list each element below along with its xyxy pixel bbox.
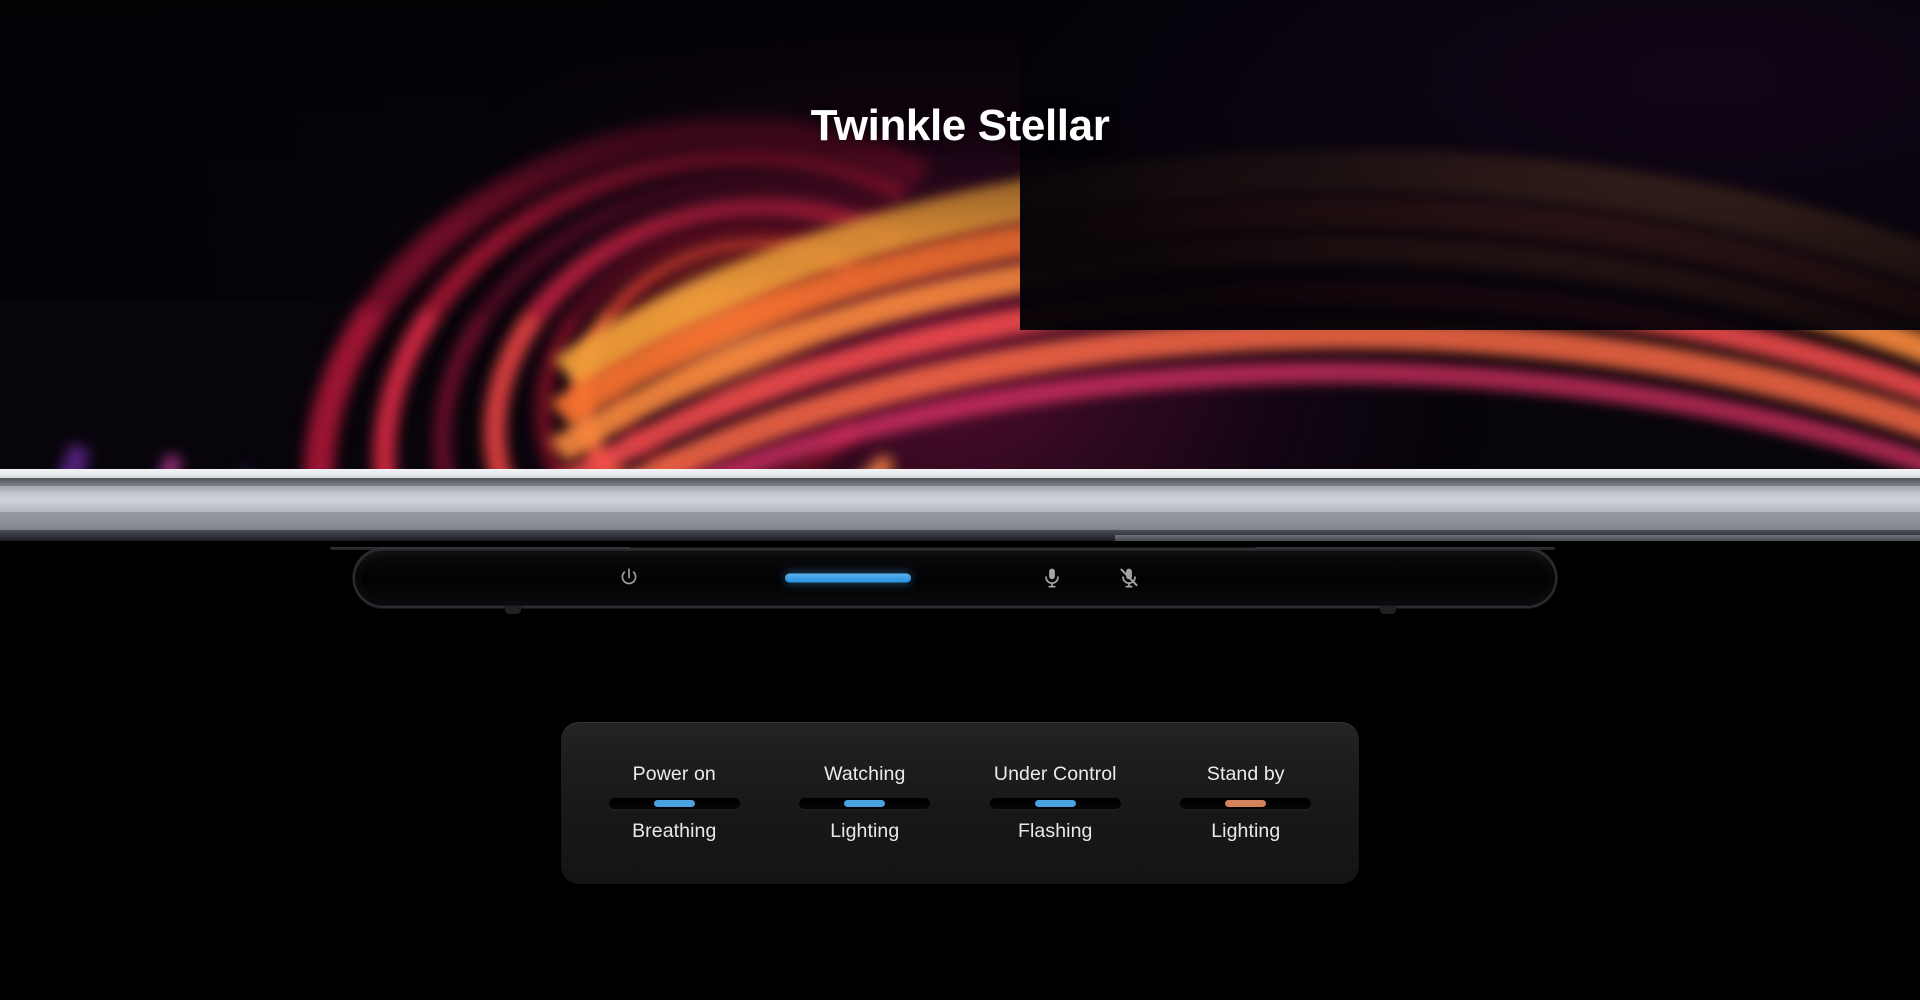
status-mode-label: Lighting <box>830 822 899 842</box>
status-card-under-control[interactable]: Under Control Flashing <box>960 765 1151 841</box>
status-card-stand-by[interactable]: Stand by Lighting <box>1151 765 1342 841</box>
status-indicator-track[interactable] <box>1180 798 1311 809</box>
status-mode-label: Lighting <box>1211 822 1280 842</box>
bezel-aluminium-face <box>0 486 1920 512</box>
status-indicator-fill <box>844 800 885 807</box>
bezel-lower-face <box>0 512 1920 530</box>
status-title: Under Control <box>994 765 1117 785</box>
microphone-muted-icon[interactable] <box>1117 566 1141 590</box>
led-strip[interactable] <box>785 574 911 583</box>
bezel-highlight-edge <box>0 469 1920 478</box>
status-indicator-fill <box>654 800 695 807</box>
status-card-watching[interactable]: Watching Lighting <box>770 765 961 841</box>
light-bar[interactable] <box>355 550 1555 606</box>
status-indicator-fill <box>1035 800 1076 807</box>
status-mode-label: Breathing <box>632 822 716 842</box>
status-panel: Power on Breathing Watching Lighting Und… <box>561 722 1359 884</box>
status-indicator-track[interactable] <box>609 798 740 809</box>
status-title: Stand by <box>1207 765 1285 785</box>
microphone-icon[interactable] <box>1040 566 1064 590</box>
status-indicator-track[interactable] <box>799 798 930 809</box>
bezel-top-shade <box>0 478 1920 486</box>
wallpaper-vignette-right <box>1020 0 1920 330</box>
power-icon[interactable] <box>617 566 641 590</box>
status-title: Watching <box>824 765 905 785</box>
status-indicator-fill <box>1225 800 1266 807</box>
status-title: Power on <box>633 765 716 785</box>
wallpaper-image <box>0 0 1920 469</box>
bezel-seam <box>1115 535 1920 541</box>
page-title: Twinkle Stellar <box>0 101 1920 151</box>
light-bar-notch-left <box>505 606 521 614</box>
status-indicator-track[interactable] <box>990 798 1121 809</box>
laptop-bezel <box>0 469 1920 541</box>
light-bar-notch-right <box>1380 606 1396 614</box>
laptop-screen <box>0 0 1920 469</box>
status-mode-label: Flashing <box>1018 822 1093 842</box>
status-card-power-on[interactable]: Power on Breathing <box>579 765 770 841</box>
